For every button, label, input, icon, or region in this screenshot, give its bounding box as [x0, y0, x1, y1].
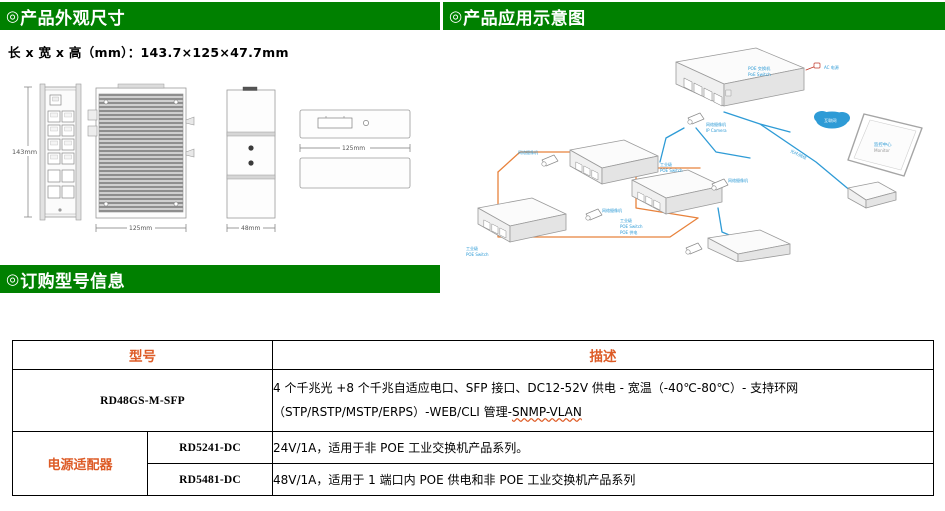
product-dimension-drawings: 143mm [0, 70, 440, 250]
core-switch-label-2: PoE Switch [748, 72, 771, 77]
switch-bottom-label-1: 工业级 [660, 161, 672, 167]
column-header-model: 型号 [13, 341, 273, 370]
switch-bottom-label-2: POE Switch [660, 168, 683, 173]
drawing-front-view: 143mm [10, 84, 81, 220]
camera-1-label-2: IP Camera [706, 128, 727, 133]
ring-icon: ◎ [6, 272, 19, 287]
description-line-2-prefix: （STP/RSTP/MSTP/ERPS）-WEB/CLI 管理- [273, 405, 512, 419]
drawing-depth-view: 48mm [227, 87, 275, 232]
camera-3-label: 网络摄像机 [728, 177, 748, 183]
switch-middle-label-2: POE Switch [620, 224, 643, 229]
section-title-dimensions: 产品外观尺寸 [20, 4, 125, 29]
table-row: RD48GS-M-SFP 4 个千兆光 +8 个千兆自适应电口、SFP 接口、D… [13, 370, 934, 432]
section-header-ordering: ◎ 订购型号信息 [0, 265, 440, 293]
switch-left-label-2: POE Switch [466, 252, 489, 257]
diagram-edge-device [848, 182, 896, 208]
description-spellcheck-term: SNMP-VLAN [512, 405, 582, 419]
cell-description-adapter-48v: 48V/1A，适用于 1 端口内 POE 供电和非 POE 工业交换机产品系列 [273, 464, 934, 496]
ip-camera-3: 网络摄像机 [712, 177, 748, 190]
core-switch-power: AC 电源 [806, 63, 839, 70]
ip-camera-4: 网络摄像机 [586, 207, 622, 220]
cloud-label: 互联网 [824, 117, 837, 124]
display-label-2: Monitor [874, 148, 890, 153]
diagram-switch-left: 工业级 POE Switch [466, 198, 566, 257]
section-header-application: ◎ 产品应用示意图 [443, 2, 945, 30]
application-topology-diagram: POE 交换机 PoE Switch AC 电源 互联网 [460, 32, 945, 262]
column-header-description: 描述 [273, 341, 934, 370]
cell-description-main: 4 个千兆光 +8 个千兆自适应电口、SFP 接口、DC12-52V 供电 - … [273, 370, 934, 432]
camera-1-label-1: 网络摄像机 [706, 121, 726, 127]
description-line-1: 4 个千兆光 +8 个千兆自适应电口、SFP 接口、DC12-52V 供电 - … [273, 377, 933, 400]
camera-4-label: 网络摄像机 [602, 207, 622, 213]
dimension-label-top-width: 125mm [342, 145, 365, 152]
switch-left-label-1: 工业级 [466, 245, 478, 251]
dimension-label-depth: 48mm [241, 225, 260, 232]
camera-2-label: 网络摄像机 [518, 149, 538, 155]
section-title-ordering: 订购型号信息 [20, 267, 125, 292]
monitoring-display: 监控中心 Monitor [848, 114, 922, 176]
description-line-2: （STP/RSTP/MSTP/ERPS）-WEB/CLI 管理-SNMP-VLA… [273, 401, 933, 424]
dimension-caption: 长 x 宽 x 高（mm）：143.7×125×47.7mm [8, 42, 289, 61]
table-row: 电源适配器 RD5241-DC 24V/1A，适用于非 POE 工业交换机产品系… [13, 432, 934, 464]
diagram-nvr [708, 230, 790, 262]
dimension-label-width: 125mm [129, 225, 152, 232]
drawing-top-views: 125mm [300, 110, 410, 188]
cell-model-adapter-48v: RD5481-DC [148, 464, 273, 496]
cell-group-power-adapter: 电源适配器 [13, 432, 148, 496]
internet-cloud: 互联网 [814, 111, 850, 129]
product-datasheet-page: ◎ 产品外观尺寸 ◎ 产品应用示意图 ◎ 订购型号信息 长 x 宽 x 高（mm… [0, 0, 945, 511]
core-switch-label-1: POE 交换机 [748, 65, 771, 72]
dimension-label-height: 143mm [12, 148, 37, 156]
drawing-finned-view: 125mm [88, 84, 194, 232]
core-power-label: AC 电源 [824, 64, 839, 70]
table-row: RD5481-DC 48V/1A，适用于 1 端口内 POE 供电和非 POE … [13, 464, 934, 496]
section-header-dimensions: ◎ 产品外观尺寸 [0, 2, 440, 30]
cell-description-adapter-24v: 24V/1A，适用于非 POE 工业交换机产品系列。 [273, 432, 934, 464]
ip-camera-1: 网络摄像机 IP Camera [688, 113, 727, 133]
switch-middle-label-3: POE 供电 [620, 229, 637, 235]
switch-middle-label-1: 工业级 [620, 217, 632, 223]
cell-model-adapter-24v: RD5241-DC [148, 432, 273, 464]
ring-icon: ◎ [449, 9, 462, 24]
cable-label-fiber: 光纤/网线 [790, 148, 808, 161]
diagram-switch-middle: 工业级 POE Switch POE 供电 [620, 170, 722, 235]
display-label-1: 监控中心 [874, 141, 892, 148]
section-title-application: 产品应用示意图 [463, 4, 586, 29]
table-header-row: 型号 描述 [13, 341, 934, 370]
cell-model-main: RD48GS-M-SFP [13, 370, 273, 432]
diagram-core-switch: POE 交换机 PoE Switch [676, 48, 804, 106]
ip-camera-5 [686, 243, 702, 254]
ring-icon: ◎ [6, 9, 19, 24]
ordering-information-table: 型号 描述 RD48GS-M-SFP 4 个千兆光 +8 个千兆自适应电口、SF… [12, 340, 934, 496]
